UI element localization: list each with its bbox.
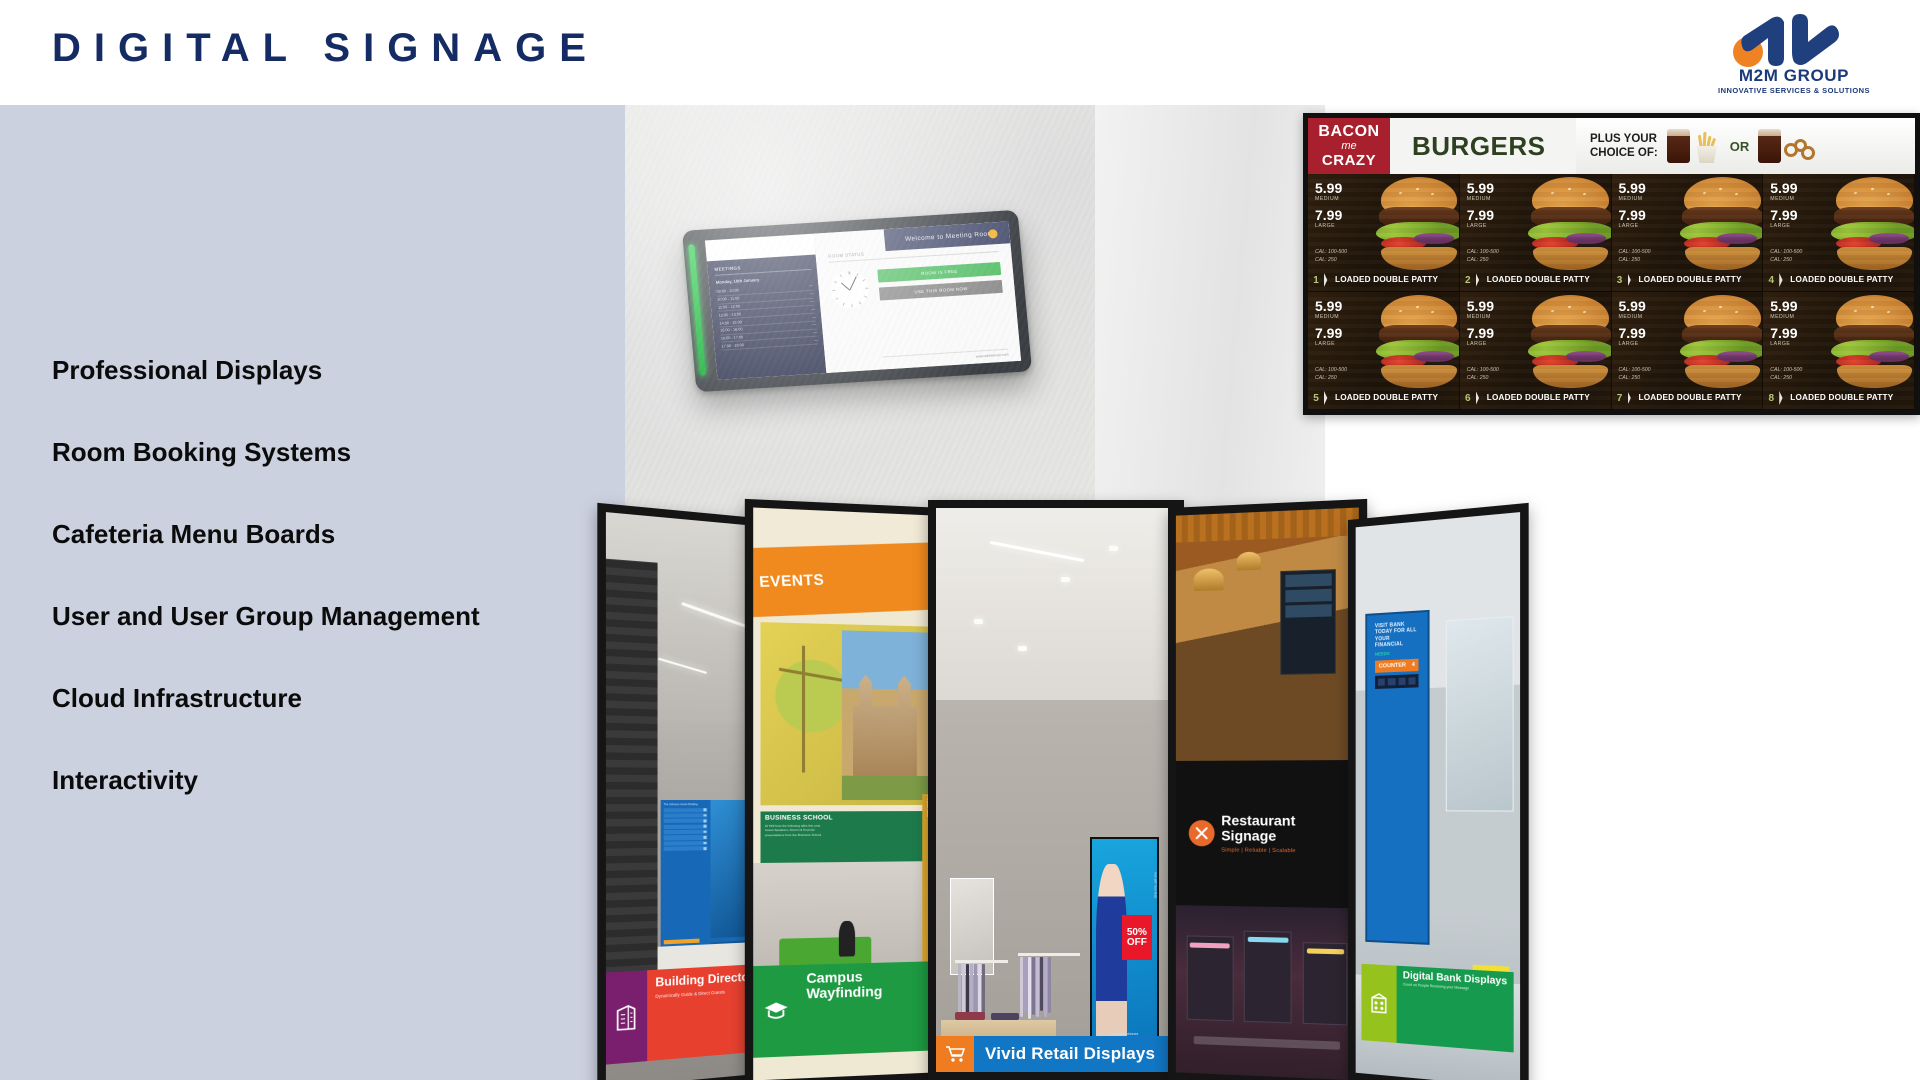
menu-item-cell[interactable]: 5.99 MEDIUM 7.99 LARGE CAL: 100-500 CAL:…: [1308, 174, 1460, 292]
calorie-info: CAL: 100-500 CAL: 250: [1467, 249, 1499, 265]
cal-line-2: CAL: 250: [1770, 375, 1802, 383]
campus-photo: [842, 630, 929, 800]
price-large-label: LARGE: [1619, 341, 1646, 347]
calorie-info: CAL: 100-500 CAL: 250: [1467, 367, 1499, 383]
graduation-cap-icon: [753, 965, 798, 1058]
room-booking-photo: MEETINGS Monday, 18th January 09:00 - 10…: [625, 105, 1095, 525]
kiosk-subhead: NEEDS: [1375, 650, 1419, 657]
price-large: 7.99: [1770, 208, 1797, 222]
burger-photo: [1375, 174, 1459, 276]
cal-line-2: CAL: 250: [1619, 257, 1651, 265]
price-medium-label: MEDIUM: [1770, 314, 1797, 320]
choice-line-1: PLUS YOUR: [1590, 132, 1658, 146]
room-free-button[interactable]: ROOM IS FREE: [878, 262, 1002, 283]
fries-icon: [1692, 135, 1722, 163]
burger-photo: [1679, 292, 1763, 394]
directory-heading: The Johnson Centre Building: [664, 803, 708, 806]
store-interior: Buy one, get one 50% OFF all summer dres…: [936, 700, 1176, 1072]
events-label: EVENTS: [758, 572, 824, 592]
directory-row: [664, 808, 708, 812]
menu-item-name-row: 6 LOADED DOUBLE PATTY: [1460, 391, 1590, 405]
price-large-label: LARGE: [1619, 223, 1646, 229]
menu-item-grid: 5.99 MEDIUM 7.99 LARGE CAL: 100-500 CAL:…: [1308, 174, 1915, 410]
menu-item-name-row: 1 LOADED DOUBLE PATTY: [1308, 273, 1438, 287]
burger-photo: [1831, 174, 1915, 276]
room-status-label: ROOM STATUS: [828, 243, 999, 263]
onion-rings-icon: [1783, 137, 1817, 163]
feature-item-interactivity: Interactivity: [52, 765, 612, 847]
price-large: 7.99: [1619, 208, 1646, 222]
cal-line-1: CAL: 100-500: [1315, 367, 1347, 375]
price-medium-label: MEDIUM: [1467, 196, 1494, 202]
bacon-me-crazy-logo: BACON me CRAZY: [1308, 118, 1390, 174]
burger-photo: [1679, 174, 1763, 276]
time-slot-label: 09:00 - 10:00: [716, 289, 739, 294]
price-medium-label: MEDIUM: [1619, 314, 1646, 320]
promo-top-text: Buy one, get one: [1153, 872, 1157, 898]
price-medium-label: MEDIUM: [1619, 196, 1646, 202]
kiosk-headline: VISIT BANK TODAY FOR ALL YOUR FINANCIAL: [1375, 621, 1419, 649]
feature-item-professional-displays: Professional Displays: [52, 355, 612, 437]
promo-badge: 50% OFF: [1122, 915, 1152, 960]
room-status-main: Welcome to Meeting Room2 ROOM STATUS: [814, 221, 1021, 373]
wall-slats: [606, 558, 657, 1042]
time-slot: 16:00 - 17:00—: [721, 329, 818, 343]
ceiling-wood: [1176, 507, 1359, 542]
price-large-label: LARGE: [1315, 341, 1342, 347]
room-action-buttons: ROOM IS FREE USE THIS ROOM NOW: [878, 262, 1004, 306]
choice-line-2: CHOICE OF:: [1590, 146, 1658, 160]
bank-interior: VISIT BANK TODAY FOR ALL YOUR FINANCIAL …: [1356, 512, 1520, 1080]
item-number: 5: [1308, 393, 1324, 404]
price-medium: 5.99: [1770, 299, 1797, 313]
price-medium: 5.99: [1619, 299, 1646, 313]
burger-photo: [1527, 174, 1611, 276]
cell-prices: 5.99 MEDIUM 7.99 LARGE: [1619, 181, 1646, 235]
calorie-info: CAL: 100-500 CAL: 250: [1619, 367, 1651, 383]
cal-line-2: CAL: 250: [1770, 257, 1802, 265]
ceiling: [936, 508, 1176, 700]
panel-screen: Buy one, get one 50% OFF all summer dres…: [936, 508, 1176, 1072]
price-large-label: LARGE: [1467, 223, 1494, 229]
price-medium: 5.99: [1770, 181, 1797, 195]
menu-board-screen: BACON me CRAZY BURGERS PLUS YOUR CHOICE …: [1308, 118, 1915, 410]
display-panel-digital-bank[interactable]: VISIT BANK TODAY FOR ALL YOUR FINANCIAL …: [1348, 503, 1529, 1080]
feature-sidebar: Professional Displays Room Booking Syste…: [0, 105, 625, 1080]
directory-row: [664, 813, 708, 818]
time-slot: 17:00 - 18:00—: [721, 337, 818, 351]
time-slot-label: 17:00 - 18:00: [721, 343, 744, 348]
soda-and-fries-icon: [1666, 129, 1722, 163]
panel-subtitle: Simple | Reliable | Scalable: [1221, 847, 1295, 854]
price-medium: 5.99: [1467, 181, 1494, 195]
price-medium-label: MEDIUM: [1315, 196, 1342, 202]
soda-and-onion-rings-icon: [1757, 129, 1817, 163]
feature-list: Professional Displays Room Booking Syste…: [52, 355, 612, 847]
item-name: LOADED DOUBLE PATTY: [1785, 393, 1893, 402]
panel-title: Campus Wayfinding: [806, 967, 936, 1003]
business-school-body: Dr Will host the following talks this ye…: [765, 823, 925, 838]
display-panel-campus-wayfinding[interactable]: EVENTS BUSINESS SCHOOL Dr Will host the …: [745, 499, 944, 1080]
cal-line-2: CAL: 250: [1315, 257, 1347, 265]
price-large-label: LARGE: [1770, 223, 1797, 229]
brand-line-1: BACON: [1318, 124, 1379, 140]
meetings-heading: MEETINGS: [714, 261, 811, 276]
menu-item-cell[interactable]: 5.99 MEDIUM 7.99 LARGE CAL: 100-500 CAL:…: [1460, 174, 1612, 292]
restaurant-label-text: RestaurantSignage Simple | Reliable | Sc…: [1221, 813, 1295, 853]
item-number: 3: [1612, 275, 1628, 286]
menu-item-name-row: 8 LOADED DOUBLE PATTY: [1763, 391, 1893, 405]
calorie-info: CAL: 100-500 CAL: 250: [1770, 367, 1802, 383]
room-booking-screen: MEETINGS Monday, 18th January 09:00 - 10…: [705, 221, 1021, 380]
display-wall-collage: The Johnson Centre Building: [600, 500, 1920, 1080]
menu-item-name-row: 5 LOADED DOUBLE PATTY: [1308, 391, 1438, 405]
item-number: 7: [1612, 393, 1628, 404]
directory-row: [664, 835, 708, 840]
analog-clock-icon: [830, 269, 871, 309]
page-title: DIGITAL SIGNAGE: [52, 26, 599, 71]
cell-prices: 5.99 MEDIUM 7.99 LARGE: [1315, 299, 1342, 353]
combo-choice-strip: PLUS YOUR CHOICE OF: OR: [1576, 118, 1915, 174]
room-booking-panel: MEETINGS Monday, 18th January 09:00 - 10…: [682, 210, 1032, 392]
item-name: LOADED DOUBLE PATTY: [1482, 393, 1590, 402]
directory-row: [664, 841, 708, 846]
display-panel-restaurant-signage[interactable]: RestaurantSignage Simple | Reliable | Sc…: [1168, 499, 1367, 1080]
seated-person: [839, 921, 855, 957]
logo-tagline: INNOVATIVE SERVICES & SOLUTIONS: [1694, 86, 1894, 95]
burger-photo: [1831, 292, 1915, 394]
menu-section-title: BURGERS: [1390, 118, 1576, 174]
calorie-info: CAL: 100-500 CAL: 250: [1315, 367, 1347, 383]
room-title-bar: Welcome to Meeting Room2: [884, 221, 1010, 251]
digital-menu-board: [1281, 569, 1337, 676]
cal-line-2: CAL: 250: [1619, 375, 1651, 383]
m2m-logo-mark-icon: [1722, 8, 1862, 70]
panel-label-bar: Digital Bank Displays Count on People Re…: [1362, 964, 1513, 1053]
item-number: 2: [1460, 275, 1476, 286]
room-footer-url: www.webserver.com: [882, 349, 1009, 365]
directory-row: [664, 830, 708, 835]
price-large: 7.99: [1315, 326, 1342, 340]
directory-row: [664, 846, 708, 851]
time-slot-label: 14:00 - 15:00: [719, 320, 742, 325]
price-large: 7.99: [1770, 326, 1797, 340]
restaurant-photo: [1176, 507, 1359, 760]
cal-line-2: CAL: 250: [1467, 257, 1499, 265]
directory-list: The Johnson Centre Building: [660, 800, 710, 947]
room-status-body: ROOM IS FREE USE THIS ROOM NOW: [830, 261, 1004, 310]
price-large-label: LARGE: [1467, 341, 1494, 347]
feature-item-cloud-infrastructure: Cloud Infrastructure: [52, 683, 612, 765]
item-number: 1: [1308, 275, 1324, 286]
menu-item-name-row: 7 LOADED DOUBLE PATTY: [1612, 391, 1742, 405]
cell-prices: 5.99 MEDIUM 7.99 LARGE: [1619, 299, 1646, 353]
item-name: LOADED DOUBLE PATTY: [1330, 275, 1438, 284]
panel-title: Vivid Retail Displays: [974, 1036, 1176, 1072]
directory-screen: The Johnson Centre Building: [660, 800, 754, 947]
room-title: Welcome to Meeting Room2: [905, 230, 998, 243]
cell-prices: 5.99 MEDIUM 7.99 LARGE: [1467, 181, 1494, 235]
time-slot: 15:00 - 16:00—: [720, 322, 817, 336]
directory-row: [664, 819, 708, 824]
panel-label-bar: Vivid Retail Displays: [936, 1036, 1176, 1072]
calorie-info: CAL: 100-500 CAL: 250: [1315, 249, 1347, 265]
cal-line-1: CAL: 100-500: [1619, 249, 1651, 257]
status-led-strip: [688, 244, 706, 376]
menu-board-header: BACON me CRAZY BURGERS PLUS YOUR CHOICE …: [1308, 118, 1915, 174]
cell-prices: 5.99 MEDIUM 7.99 LARGE: [1467, 299, 1494, 353]
time-slot: 10:00 - 11:00—: [717, 291, 814, 305]
cal-line-1: CAL: 100-500: [1770, 249, 1802, 257]
price-medium: 5.99: [1467, 299, 1494, 313]
cal-line-1: CAL: 100-500: [1619, 367, 1651, 375]
cell-prices: 5.99 MEDIUM 7.99 LARGE: [1770, 181, 1797, 235]
time-slot-label: 15:00 - 16:00: [720, 328, 743, 333]
building-icon: [606, 970, 647, 1064]
time-slot: 12:00 - 13:00—: [718, 306, 815, 320]
time-slot-label: 16:00 - 17:00: [721, 335, 744, 340]
cal-line-1: CAL: 100-500: [1770, 367, 1802, 375]
menu-item-cell[interactable]: 5.99 MEDIUM 7.99 LARGE CAL: 100-500 CAL:…: [1612, 292, 1764, 410]
burger-photo: [1375, 292, 1459, 394]
menu-item-cell[interactable]: 5.99 MEDIUM 7.99 LARGE CAL: 100-500 CAL:…: [1763, 292, 1915, 410]
bank-icon: [1362, 964, 1397, 1043]
price-medium-label: MEDIUM: [1770, 196, 1797, 202]
menu-item-cell[interactable]: 5.99 MEDIUM 7.99 LARGE CAL: 100-500 CAL:…: [1763, 174, 1915, 292]
display-panel-vivid-retail[interactable]: Buy one, get one 50% OFF all summer dres…: [928, 500, 1184, 1080]
calorie-info: CAL: 100-500 CAL: 250: [1770, 249, 1802, 265]
night-street-photo: [1176, 905, 1359, 1080]
time-slot-label: 12:00 - 13:00: [719, 312, 742, 317]
cal-line-1: CAL: 100-500: [1315, 249, 1347, 257]
menu-item-name-row: 4 LOADED DOUBLE PATTY: [1763, 273, 1893, 287]
menu-item-cell[interactable]: 5.99 MEDIUM 7.99 LARGE CAL: 100-500 CAL:…: [1460, 292, 1612, 410]
counter-number: 4: [1412, 662, 1415, 668]
cutlery-circle-icon: [1188, 820, 1214, 846]
time-slot-label: 10:00 - 11:00: [717, 297, 739, 302]
price-large-label: LARGE: [1770, 341, 1797, 347]
tenant-logo-placeholder: [705, 234, 816, 262]
business-school-title: BUSINESS SCHOOL: [765, 814, 925, 822]
menu-item-name-row: 3 LOADED DOUBLE PATTY: [1612, 273, 1742, 287]
time-slot-label: 11:00 - 12:00: [718, 304, 740, 309]
time-slot: 14:00 - 15:00—: [719, 314, 816, 328]
cell-prices: 5.99 MEDIUM 7.99 LARGE: [1770, 299, 1797, 353]
panel-screen: EVENTS BUSINESS SCHOOL Dr Will host the …: [753, 507, 936, 1080]
cal-line-2: CAL: 250: [1315, 375, 1347, 383]
menu-item-cell[interactable]: 5.99 MEDIUM 7.99 LARGE CAL: 100-500 CAL:…: [1612, 174, 1764, 292]
directory-row: [664, 824, 708, 829]
soda-cup-icon: [1757, 129, 1782, 163]
meetings-sidebar: MEETINGS Monday, 18th January 09:00 - 10…: [705, 234, 827, 380]
feature-item-user-group-management: User and User Group Management: [52, 601, 612, 683]
retail-ad-screen: Buy one, get one 50% OFF all summer dres…: [1090, 837, 1160, 1045]
price-large: 7.99: [1315, 208, 1342, 222]
cal-line-2: CAL: 250: [1467, 375, 1499, 383]
page-header: DIGITAL SIGNAGE M2M GROUP INNOVATIVE SER…: [0, 0, 1920, 105]
counter-strip: COUNTER 4: [1375, 658, 1419, 672]
brand-line-3: CRAZY: [1322, 153, 1376, 168]
panel-screen: VISIT BANK TODAY FOR ALL YOUR FINANCIAL …: [1356, 512, 1520, 1080]
item-name: LOADED DOUBLE PATTY: [1634, 275, 1742, 284]
price-large: 7.99: [1467, 326, 1494, 340]
price-large: 7.99: [1619, 326, 1646, 340]
cell-prices: 5.99 MEDIUM 7.99 LARGE: [1315, 181, 1342, 235]
feature-item-room-booking-systems: Room Booking Systems: [52, 437, 612, 519]
item-name: LOADED DOUBLE PATTY: [1634, 393, 1742, 402]
cal-line-1: CAL: 100-500: [1467, 367, 1499, 375]
menu-item-name-row: 2 LOADED DOUBLE PATTY: [1460, 273, 1590, 287]
logo-name: M2M GROUP: [1694, 66, 1894, 86]
panel-label-text: Campus Wayfinding: [798, 961, 936, 1056]
cafeteria-menu-board: BACON me CRAZY BURGERS PLUS YOUR CHOICE …: [1303, 113, 1920, 415]
brand-line-2: me: [1341, 141, 1356, 152]
soda-cup-icon: [1666, 129, 1691, 163]
restaurant-branding-strip: RestaurantSignage Simple | Reliable | Sc…: [1176, 760, 1359, 909]
item-number: 4: [1763, 275, 1779, 286]
price-medium: 5.99: [1315, 181, 1342, 195]
price-medium: 5.99: [1315, 299, 1342, 313]
time-slot: 11:00 - 12:00—: [718, 298, 815, 312]
shopping-cart-icon: [936, 1036, 974, 1072]
item-name: LOADED DOUBLE PATTY: [1482, 275, 1590, 284]
price-medium-label: MEDIUM: [1315, 314, 1342, 320]
time-slot: 09:00 - 10:00—: [716, 283, 813, 297]
events-banner: EVENTS: [753, 543, 936, 618]
calorie-info: CAL: 100-500 CAL: 250: [1619, 249, 1651, 265]
panel-label-text: Digital Bank Displays Count on People Re…: [1397, 966, 1513, 1053]
item-number: 6: [1460, 393, 1476, 404]
wall-background-right: [1095, 105, 1325, 525]
counter-label: COUNTER: [1379, 662, 1406, 669]
sun-icon: [988, 229, 998, 239]
meetings-date: Monday, 18th January: [716, 274, 813, 285]
price-medium: 5.99: [1619, 181, 1646, 195]
window: [1446, 616, 1514, 811]
use-room-now-button[interactable]: USE THIS ROOM NOW: [879, 280, 1003, 301]
number-grid: [1375, 674, 1419, 689]
price-large: 7.99: [1467, 208, 1494, 222]
menu-item-cell[interactable]: 5.99 MEDIUM 7.99 LARGE CAL: 100-500 CAL:…: [1308, 292, 1460, 410]
item-name: LOADED DOUBLE PATTY: [1785, 275, 1893, 284]
item-name: LOADED DOUBLE PATTY: [1330, 393, 1438, 402]
panel-screen: RestaurantSignage Simple | Reliable | Sc…: [1176, 507, 1359, 1080]
cal-line-1: CAL: 100-500: [1467, 249, 1499, 257]
price-medium-label: MEDIUM: [1467, 314, 1494, 320]
or-label: OR: [1730, 139, 1750, 154]
price-large-label: LARGE: [1315, 223, 1342, 229]
panel-title: RestaurantSignage: [1221, 813, 1295, 844]
company-logo: M2M GROUP INNOVATIVE SERVICES & SOLUTION…: [1694, 8, 1894, 100]
choice-text: PLUS YOUR CHOICE OF:: [1590, 132, 1658, 161]
bank-kiosk-screen: VISIT BANK TODAY FOR ALL YOUR FINANCIAL …: [1365, 610, 1429, 945]
feature-item-cafeteria-menu-boards: Cafeteria Menu Boards: [52, 519, 612, 601]
panel-label-bar: Campus Wayfinding: [753, 961, 936, 1058]
burger-photo: [1527, 292, 1611, 394]
item-number: 8: [1763, 393, 1779, 404]
